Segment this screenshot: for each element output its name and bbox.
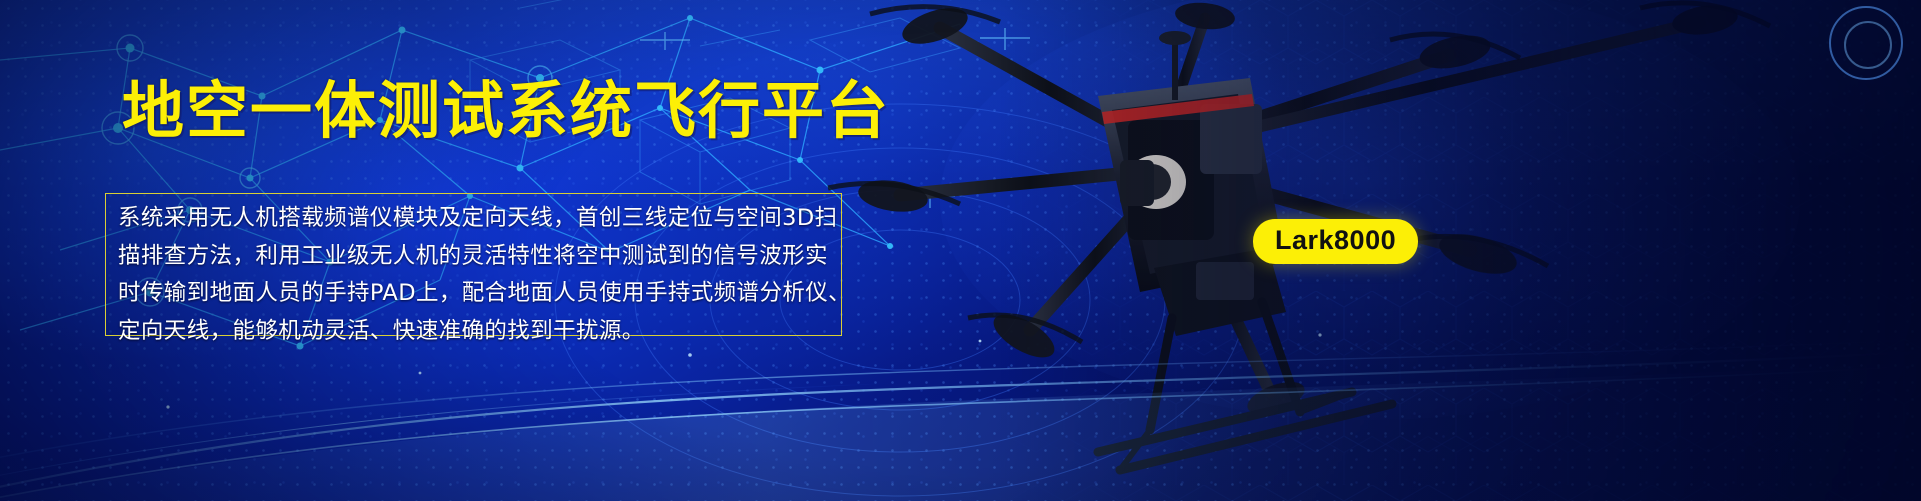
page-title: 地空一体测试系统飞行平台 bbox=[122, 78, 890, 143]
banner-content: 地空一体测试系统飞行平台 系统采用无人机搭载频谱仪模块及定向天线，首创三线定位与… bbox=[0, 0, 1921, 501]
product-model-badge: Lark8000 bbox=[1253, 219, 1418, 264]
description-line-2: 描排查方法，利用工业级无人机的灵活特性将空中测试到的信号波形实 bbox=[118, 238, 829, 276]
description-line-3: 时传输到地面人员的手持PAD上，配合地面人员使用手持式频谱分析仪、 bbox=[118, 275, 829, 313]
description-line-1: 系统采用无人机搭载频谱仪模块及定向天线，首创三线定位与空间3D扫 bbox=[118, 200, 829, 238]
description-box: 系统采用无人机搭载频谱仪模块及定向天线，首创三线定位与空间3D扫 描排查方法，利… bbox=[105, 193, 842, 336]
description-line-4: 定向天线，能够机动灵活、快速准确的找到干扰源。 bbox=[118, 313, 829, 351]
product-hero-banner: 地空一体测试系统飞行平台 系统采用无人机搭载频谱仪模块及定向天线，首创三线定位与… bbox=[0, 0, 1921, 501]
